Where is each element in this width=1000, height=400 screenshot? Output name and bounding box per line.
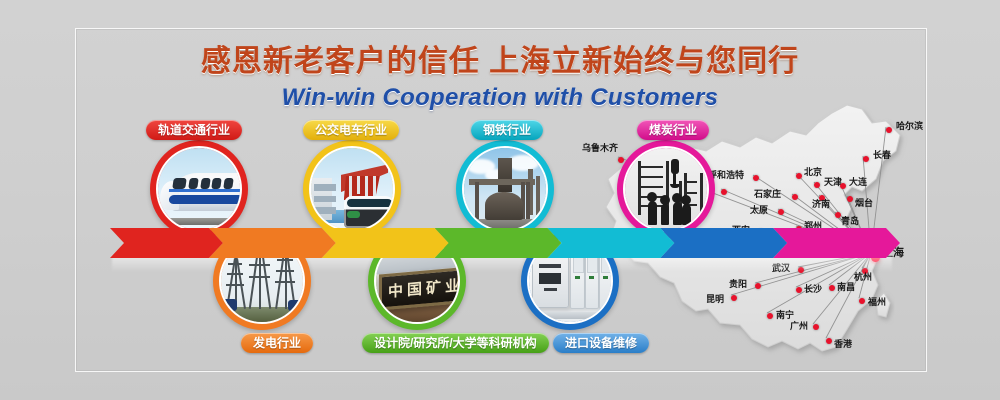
- steel-circle-ring: [456, 140, 554, 238]
- coal-circle-ring: [617, 140, 715, 238]
- map-city-dot: [886, 127, 892, 133]
- map-city-label: 昆明: [706, 295, 724, 304]
- map-city-dot: [859, 298, 865, 304]
- map-city-dot: [767, 313, 773, 319]
- map-city-label: 长春: [873, 151, 891, 160]
- ribbon-segment-coal: [773, 228, 900, 258]
- map-city-label: 青岛: [841, 217, 859, 226]
- map-city-dot: [731, 295, 737, 301]
- map-city-label: 杭州: [854, 273, 872, 282]
- badge-steel[interactable]: 钢铁行业: [471, 120, 543, 140]
- map-city-label: 大连: [849, 178, 867, 187]
- headline-block: 感恩新老客户的信任 上海立新始终与您同行 Win-win Cooperation…: [0, 44, 1000, 112]
- coal-derrick-photo: [623, 146, 709, 232]
- rail-photo: [156, 146, 242, 232]
- map-city-dot: [829, 285, 835, 291]
- map-city-dot: [618, 157, 624, 163]
- rail-circle-ring: [150, 140, 248, 238]
- ribbon-segment-import: [660, 228, 787, 258]
- ribbon-segment-rail: [110, 228, 223, 258]
- map-city-label: 北京: [804, 168, 822, 177]
- chevron-ribbon: [110, 228, 900, 258]
- badge-coal[interactable]: 煤炭行业: [637, 120, 709, 140]
- ribbon-segment-research: [435, 228, 562, 258]
- map-city-label: 石家庄: [754, 190, 781, 199]
- signboard-calligraphy: 中国矿业大学: [388, 271, 460, 302]
- map-city-dot: [753, 175, 759, 181]
- badge-power[interactable]: 发电行业: [241, 333, 313, 353]
- map-city-label: 香港: [834, 340, 852, 349]
- map-city-label: 济南: [812, 200, 830, 209]
- map-city-dot: [814, 182, 820, 188]
- map-city-label: 贵阳: [729, 280, 747, 289]
- badge-research[interactable]: 设计院/研究所/大学等科研机构: [362, 333, 549, 353]
- map-city-label: 南昌: [837, 283, 855, 292]
- map-city-dot: [796, 173, 802, 179]
- headline-english: Win-win Cooperation with Customers: [0, 84, 1000, 112]
- map-city-dot: [792, 194, 798, 200]
- map-city-label: 福州: [868, 298, 886, 307]
- bus-circle-ring: [303, 140, 401, 238]
- steel-mill-photo: [462, 146, 548, 232]
- ribbon-segment-power: [209, 228, 336, 258]
- headline-chinese: 感恩新老客户的信任 上海立新始终与您同行: [0, 44, 1000, 80]
- badge-bus[interactable]: 公交电车行业: [303, 120, 399, 140]
- map-city-label: 乌鲁木齐: [582, 144, 618, 153]
- badge-rail[interactable]: 轨道交通行业: [146, 120, 242, 140]
- bus-photo: [309, 146, 395, 232]
- map-city-label: 广州: [790, 322, 808, 331]
- map-city-dot: [755, 283, 761, 289]
- map-city-label: 烟台: [855, 199, 873, 208]
- map-city-dot: [826, 338, 832, 344]
- map-city-dot: [863, 156, 869, 162]
- ribbon-segment-bus: [322, 228, 449, 258]
- map-city-label: 长沙: [804, 285, 822, 294]
- map-city-dot: [796, 287, 802, 293]
- map-city-dot: [847, 196, 853, 202]
- map-city-dot: [721, 189, 727, 195]
- badge-import[interactable]: 进口设备维修: [553, 333, 649, 353]
- map-city-dot: [840, 183, 846, 189]
- map-city-label: 哈尔滨: [896, 122, 923, 131]
- map-city-dot: [778, 209, 784, 215]
- map-city-dot: [813, 324, 819, 330]
- map-city-label: 太原: [750, 206, 768, 215]
- ribbon-segment-steel: [547, 228, 674, 258]
- map-city-label: 南宁: [776, 311, 794, 320]
- banner-stage: 哈尔滨长春乌鲁木齐呼和浩特北京天津大连银川石家庄济南烟台太原青岛西安郑州合肥南京…: [0, 0, 1000, 400]
